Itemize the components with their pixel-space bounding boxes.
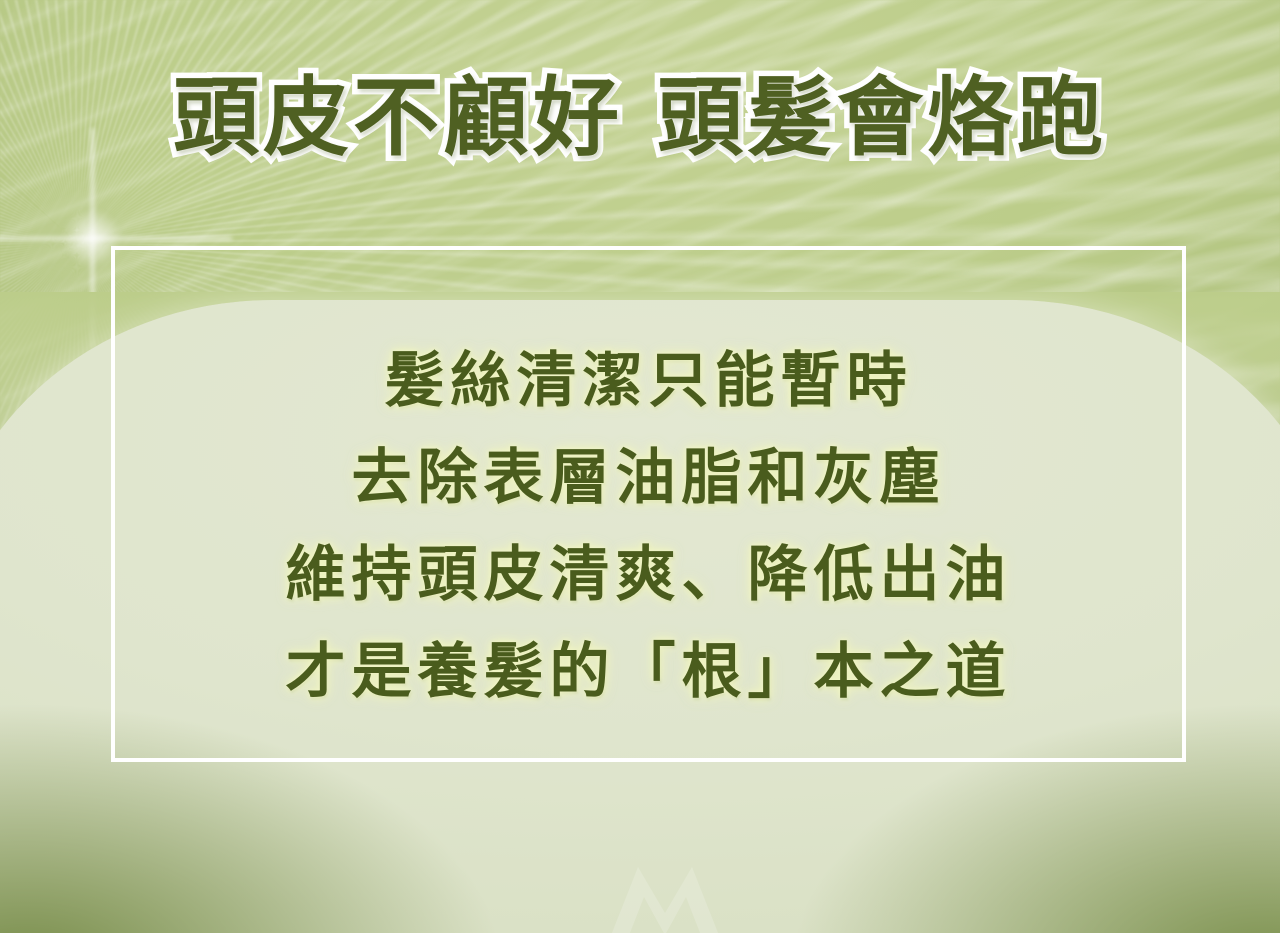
body-line: 髮絲清潔只能暫時 [385,339,913,424]
body-text-block: 髮絲清潔只能暫時 去除表層油脂和灰塵 維持頭皮清爽、降低出油 才是養髮的「根」本… [111,246,1186,762]
watermark-chevron-icon [600,853,730,933]
body-line: 去除表層油脂和灰塵 [352,436,946,521]
page-title: 頭皮不顧好 頭髮會烙跑 [0,72,1280,165]
body-line: 維持頭皮清爽、降低出油 [286,533,1012,618]
body-line: 才是養髮的「根」本之道 [286,630,1012,715]
slide-canvas: 頭皮不顧好 頭髮會烙跑 髮絲清潔只能暫時 去除表層油脂和灰塵 維持頭皮清爽、降低… [0,0,1280,933]
